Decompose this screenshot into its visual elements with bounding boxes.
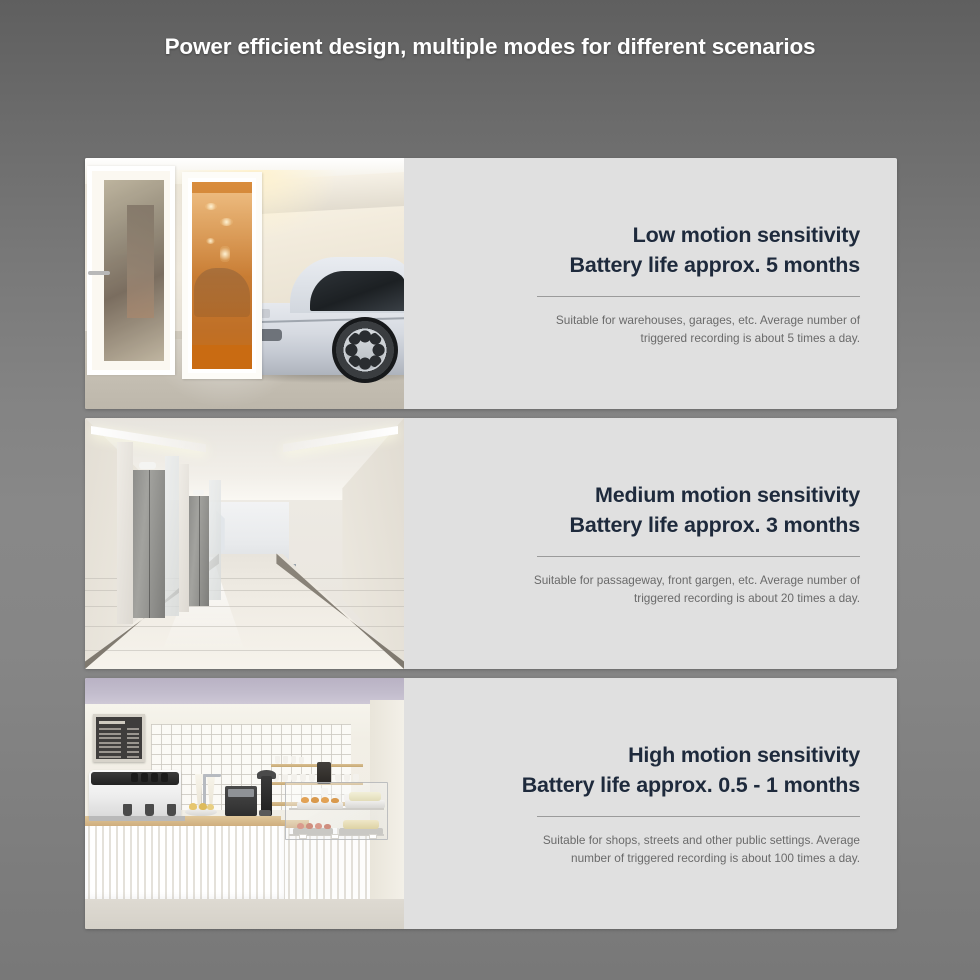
page-title: Power efficient design, multiple modes f… (0, 34, 980, 60)
cash-register (225, 786, 257, 816)
feature-card-low-sensitivity: Low motion sensitivity Battery life appr… (85, 158, 897, 409)
menu-board (93, 714, 145, 762)
card-text-panel: Medium motion sensitivity Battery life a… (404, 418, 897, 669)
orange-glass-panel (182, 172, 262, 379)
divider (537, 816, 860, 817)
espresso-machine (89, 770, 181, 818)
feature-card-medium-sensitivity: Medium motion sensitivity Battery life a… (85, 418, 897, 669)
divider (537, 296, 860, 297)
elevator-door-far (189, 496, 209, 606)
card-heading: High motion sensitivity Battery life app… (522, 740, 860, 801)
feature-card-list: Low motion sensitivity Battery life appr… (85, 158, 897, 938)
corridor-hallway-photo (85, 418, 404, 669)
card-text-panel: High motion sensitivity Battery life app… (404, 678, 897, 929)
glass-door (87, 166, 175, 375)
counter-front (85, 826, 285, 904)
card-heading: Medium motion sensitivity Battery life a… (570, 480, 861, 541)
card-description: Suitable for warehouses, garages, etc. A… (530, 311, 860, 348)
feature-card-high-sensitivity: High motion sensitivity Battery life app… (85, 678, 897, 929)
car-shape (250, 257, 404, 375)
card-text-panel: Low motion sensitivity Battery life appr… (404, 158, 897, 409)
card-heading: Low motion sensitivity Battery life appr… (570, 220, 861, 281)
card-description: Suitable for passageway, front gargen, e… (530, 571, 860, 608)
divider (537, 556, 860, 557)
cafe-counter-photo (85, 678, 404, 929)
card-description: Suitable for shops, streets and other pu… (530, 831, 860, 868)
elevator-door-near (133, 470, 165, 618)
garage-interior-photo (85, 158, 404, 409)
